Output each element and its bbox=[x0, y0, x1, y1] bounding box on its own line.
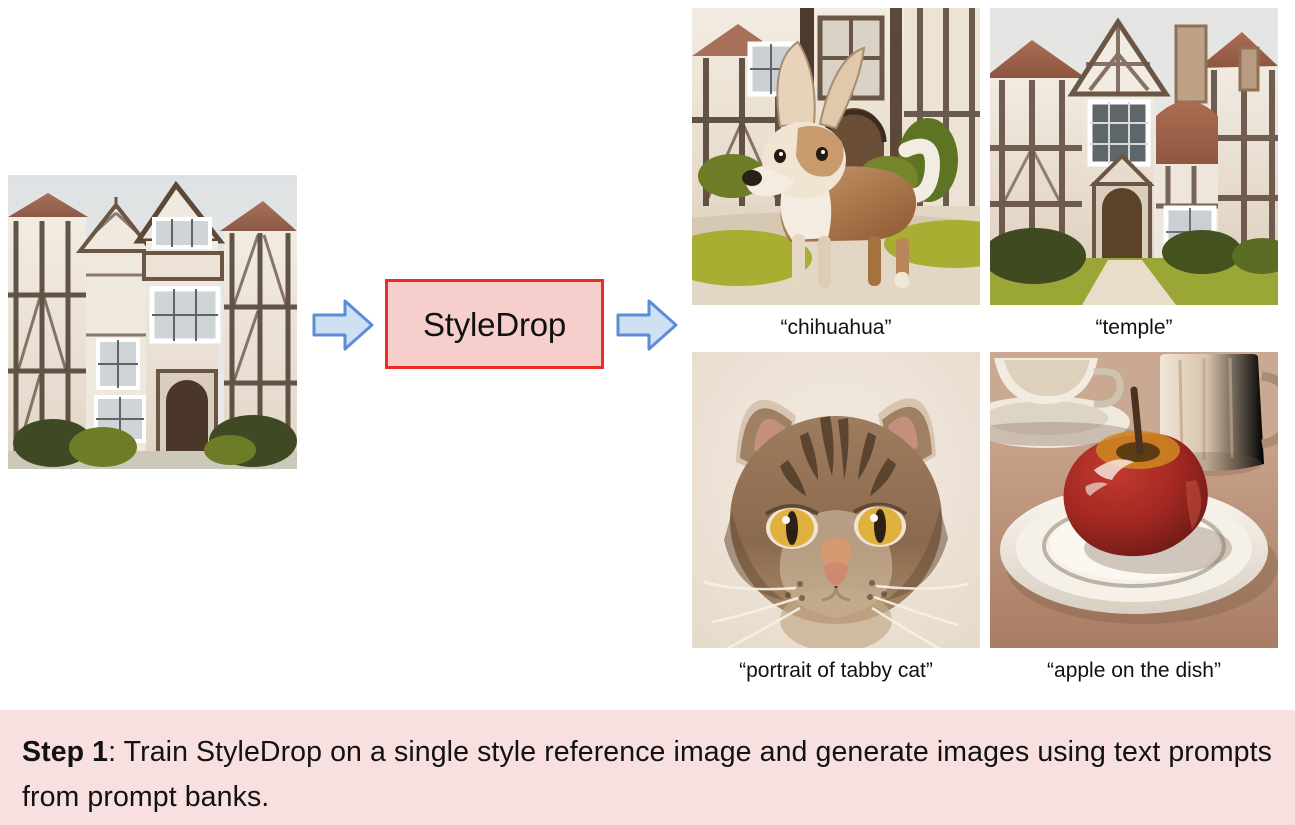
generated-image-temple bbox=[990, 8, 1278, 305]
style-reference-image bbox=[8, 175, 297, 469]
apple-on-dish-illustration bbox=[990, 352, 1278, 648]
generated-sample-temple: “temple” bbox=[990, 8, 1278, 342]
arrow-right-icon-output bbox=[616, 298, 678, 352]
generated-sample-tabby-cat: “portrait of tabby cat” bbox=[692, 352, 980, 685]
generated-sample-caption: “temple” bbox=[990, 314, 1278, 342]
generated-sample-caption: “portrait of tabby cat” bbox=[692, 657, 980, 685]
generated-image-tabby-cat bbox=[692, 352, 980, 648]
styledrop-model-label: StyleDrop bbox=[423, 308, 566, 341]
generated-sample-caption: “chihuahua” bbox=[692, 314, 980, 342]
generated-image-chihuahua bbox=[692, 8, 980, 305]
step-label: Step 1 bbox=[22, 736, 108, 768]
step-caption-body: : Train StyleDrop on a single style refe… bbox=[22, 736, 1272, 813]
tabby-cat-illustration bbox=[692, 352, 980, 648]
figure-canvas: StyleDrop bbox=[0, 0, 1295, 825]
generated-sample-caption: “apple on the dish” bbox=[990, 657, 1278, 685]
arrow-right-icon-input bbox=[312, 298, 374, 352]
chihuahua-illustration bbox=[692, 8, 980, 305]
step-caption-text: Step 1: Train StyleDrop on a single styl… bbox=[22, 730, 1273, 820]
generated-image-apple bbox=[990, 352, 1278, 648]
tudor-manor-illustration bbox=[8, 175, 297, 469]
step-caption-bar: Step 1: Train StyleDrop on a single styl… bbox=[0, 710, 1295, 825]
generated-sample-apple: “apple on the dish” bbox=[990, 352, 1278, 685]
styledrop-model-box[interactable]: StyleDrop bbox=[385, 279, 604, 369]
generated-sample-chihuahua: “chihuahua” bbox=[692, 8, 980, 342]
temple-illustration bbox=[990, 8, 1278, 305]
